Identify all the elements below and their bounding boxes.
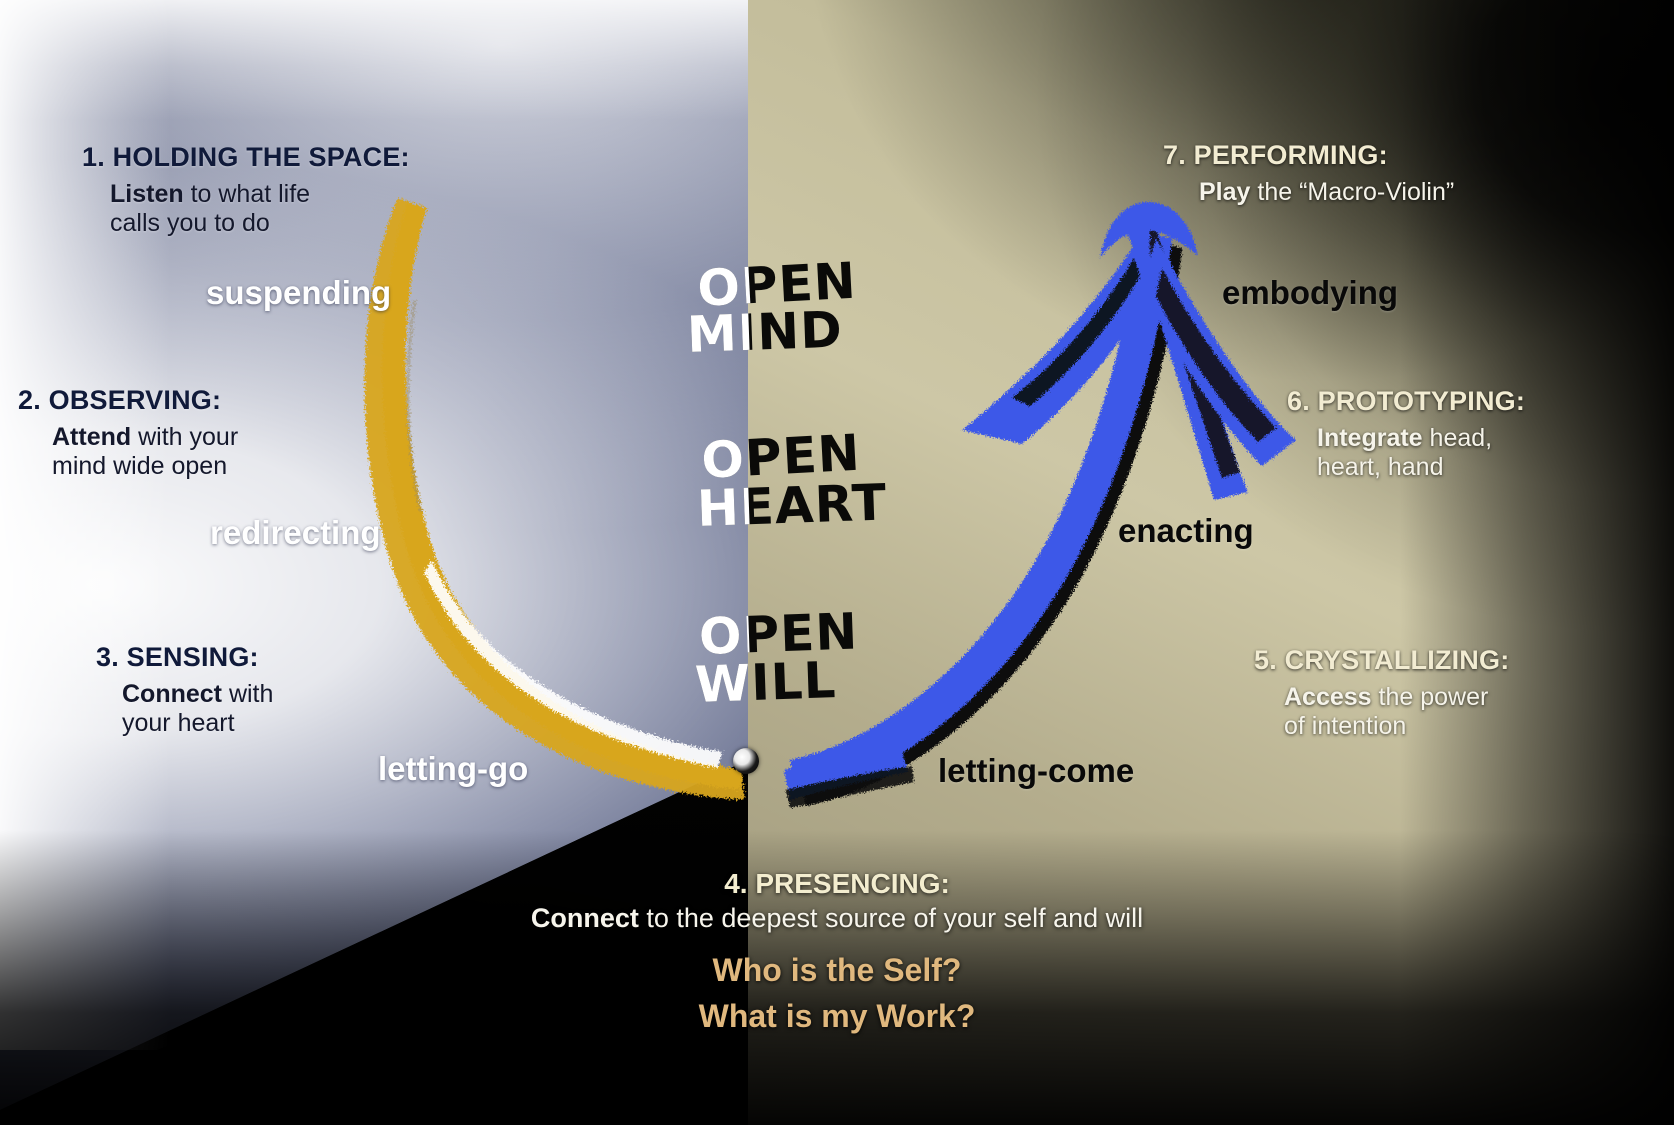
open-heart-line2-white: HEART [696,478,750,538]
step-4-presencing: 4. PRESENCING: Connect to the deepest so… [0,868,1674,934]
step-3-sensing: 3. SENSING: Connect with your heart [96,642,273,739]
center-word-open-heart-line2: HEART HEART [696,473,888,538]
step-3-emphasis: Connect [122,680,222,708]
step-5-number: 5. [1254,645,1277,675]
step-5-body-line1: Access the power [1284,683,1509,713]
step-5-heading: 5. CRYSTALLIZING: [1254,645,1509,677]
theory-u-diagram: 1. HOLDING THE SPACE: Listen to what lif… [0,0,1674,1125]
step-4-heading: 4. PRESENCING: [0,868,1674,900]
step-6-body-line2: heart, hand [1317,453,1525,483]
step-7-body: Play the “Macro-Violin” [1163,178,1454,208]
step-7-heading: 7. PERFORMING: [1163,140,1454,172]
step-5-body: Access the power of intention [1254,683,1509,742]
step-6-heading: 6. PROTOTYPING: [1287,386,1525,418]
step-6-body-line1: Integrate head, [1317,424,1525,454]
step-2-heading: 2. OBSERVING: [18,385,238,417]
step-1-emphasis: Listen [110,180,184,208]
gerund-enacting: enacting [1118,512,1254,550]
gerund-letting-go: letting-go [378,750,528,788]
step-7-body-line1: Play the “Macro-Violin” [1199,178,1454,208]
step-1-title: HOLDING THE SPACE: [113,142,410,172]
step-4-number: 4. [724,868,747,899]
step-6-emphasis: Integrate [1317,424,1423,452]
step-7-emphasis: Play [1199,178,1250,206]
step-3-body-line1: Connect with [122,680,273,710]
step-7-performing: 7. PERFORMING: Play the “Macro-Violin” [1163,140,1454,207]
gerund-embodying: embodying [1222,274,1398,312]
step-6-number: 6. [1287,386,1310,416]
step-2-body-line1: Attend with your [52,423,238,453]
step-1-number: 1. [82,142,105,172]
step-4-emphasis: Connect [531,903,639,933]
question-what-is-my-work: What is my Work? [0,998,1674,1035]
step-7-title: PERFORMING: [1194,140,1388,170]
step-3-body-line2: your heart [122,709,273,739]
step-6-body: Integrate head, heart, hand [1287,424,1525,483]
step-1-body: Listen to what life calls you to do [82,180,410,239]
step-6-title: PROTOTYPING: [1318,386,1525,416]
open-will-line2-white: WILL [694,654,750,714]
step-5-title: CRYSTALLIZING: [1285,645,1510,675]
question-who-is-the-self: Who is the Self? [0,952,1674,989]
step-1-heading: 1. HOLDING THE SPACE: [82,142,410,174]
step-4-title: PRESENCING: [755,868,949,899]
step-1-body-line1: Listen to what life [110,180,410,210]
step-5-crystallizing: 5. CRYSTALLIZING: Access the power of in… [1254,645,1509,742]
step-2-observing: 2. OBSERVING: Attend with your mind wide… [18,385,238,482]
gerund-letting-come: letting-come [938,752,1134,790]
step-3-number: 3. [96,642,119,672]
step-2-body: Attend with your mind wide open [18,423,238,482]
step-1-body-line2: calls you to do [110,209,410,239]
open-mind-line2-white: MIND [686,304,750,364]
center-word-open-mind-line2: MIND MIND [686,301,844,364]
step-4-body: Connect to the deepest source of your se… [0,903,1674,934]
step-2-body-line2: mind wide open [52,452,238,482]
gerund-suspending: suspending [206,274,391,312]
step-3-body: Connect with your heart [96,680,273,739]
step-5-body-line2: of intention [1284,712,1509,742]
center-word-open-will-line2: WILL WILL [694,651,837,714]
presencing-point-dot [733,748,759,774]
step-2-title: OBSERVING: [49,385,222,415]
step-2-number: 2. [18,385,41,415]
step-2-emphasis: Attend [52,423,131,451]
left-u-stroke-yellow [365,198,744,800]
step-5-emphasis: Access [1284,683,1372,711]
step-1-holding-the-space: 1. HOLDING THE SPACE: Listen to what lif… [82,142,410,239]
step-7-number: 7. [1163,140,1186,170]
step-3-title: SENSING: [127,642,259,672]
step-3-heading: 3. SENSING: [96,642,273,674]
step-6-prototyping: 6. PROTOTYPING: Integrate head, heart, h… [1287,386,1525,483]
gerund-redirecting: redirecting [210,514,381,552]
